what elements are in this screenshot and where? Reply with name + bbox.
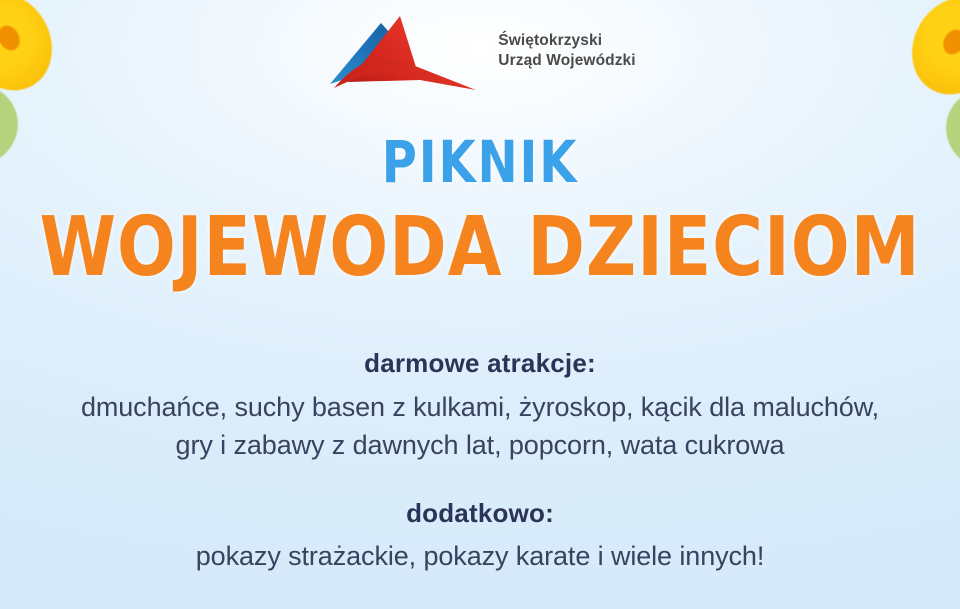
extra-block: dodatkowo: pokazy strażackie, pokazy kar… [0,498,960,575]
headline-area: PIKNIK WOJEWODA DZIECIOM [0,133,960,289]
logo-line-1: Świętokrzyski [498,31,635,51]
institution-logo: Świętokrzyski Urząd Wojewódzki [0,8,960,94]
page-title: WOJEWODA DZIECIOM [29,207,931,289]
extra-heading: dodatkowo: [0,498,960,529]
content-area: darmowe atrakcje: dmuchańce, suchy basen… [0,348,960,575]
eyebrow-title: PIKNIK [38,133,921,191]
logo-wordmark: Świętokrzyski Urząd Wojewódzki [498,31,635,71]
logo-line-2: Urząd Wojewódzki [498,51,635,71]
attractions-list: dmuchańce, suchy basen z kulkami, żyrosk… [0,388,960,465]
attractions-heading: darmowe atrakcje: [0,348,960,379]
swietokrzyski-mountain-logo-icon [324,8,484,94]
extra-line: pokazy strażackie, pokazy karate i wiele… [0,537,960,575]
attractions-line: gry i zabawy z dawnych lat, popcorn, wat… [0,426,960,464]
attractions-line: dmuchańce, suchy basen z kulkami, żyrosk… [0,388,960,426]
poster-canvas: Świętokrzyski Urząd Wojewódzki PIKNIK WO… [0,0,960,609]
